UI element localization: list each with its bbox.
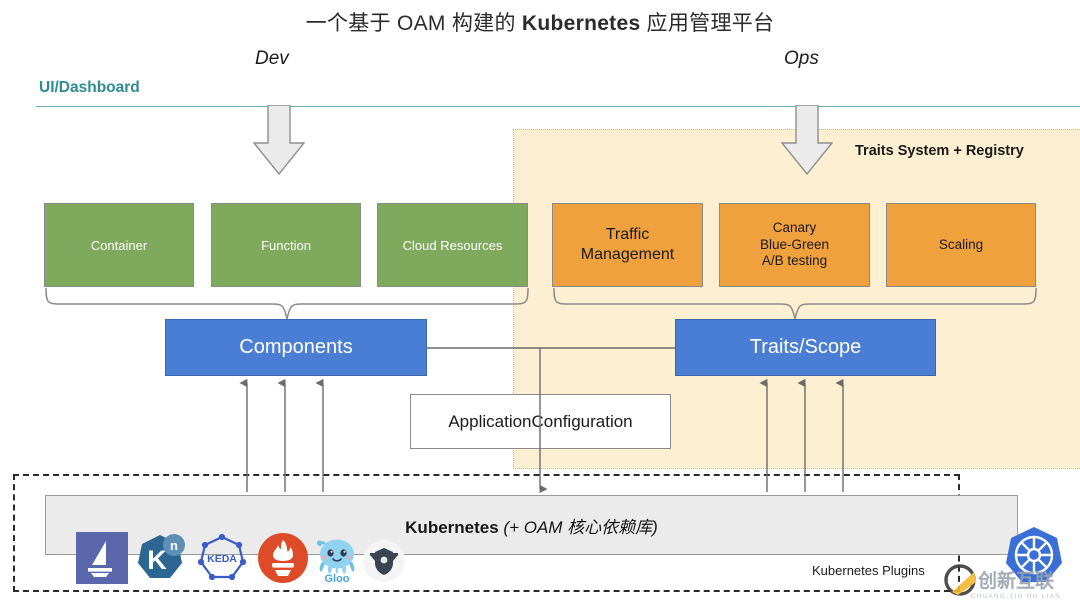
svg-text:KEDA: KEDA: [207, 553, 237, 565]
traits-scope-label: Traits/Scope: [750, 336, 862, 359]
workload-label: Container: [91, 238, 147, 253]
page-title-prefix: 一个基于 OAM 构建的: [306, 12, 522, 35]
traits-scope-box[interactable]: Traits/Scope: [675, 319, 936, 376]
traits-system-region-title: Traits System + Registry: [855, 143, 1024, 159]
trait-box-traffic-management[interactable]: Traffic Management: [552, 203, 703, 287]
kubernetes-platform-bar: Kubernetes (+ OAM 核心依赖库): [45, 495, 1018, 555]
watermark-subtext: CHUANG XIN HU LIAN: [971, 593, 1061, 600]
trait-label-line1: Scaling: [939, 237, 983, 254]
components-box[interactable]: Components: [165, 319, 427, 376]
role-label-ops: Ops: [784, 48, 819, 70]
trait-box-canary[interactable]: Canary Blue-Green A/B testing: [719, 203, 870, 287]
trait-label-line1: Canary: [760, 220, 829, 237]
svg-text:Gloo: Gloo: [324, 573, 349, 584]
diagram-canvas: 一个基于 OAM 构建的 Kubernetes 应用管理平台 Dev Ops U…: [0, 0, 1080, 609]
gloo-icon[interactable]: Gloo: [311, 532, 363, 584]
application-configuration-box[interactable]: ApplicationConfiguration: [410, 394, 671, 449]
dev-flow-arrow-icon: [253, 105, 305, 175]
watermark: 创新互联 CHUANG XIN HU LIAN: [944, 562, 1080, 602]
workload-box-container[interactable]: Container: [44, 203, 194, 287]
trait-label-line1: Traffic: [581, 225, 674, 245]
traits-brace: [552, 287, 1038, 321]
page-title-suffix: 应用管理平台: [640, 12, 774, 35]
components-label: Components: [239, 336, 352, 359]
trait-box-scaling[interactable]: Scaling: [886, 203, 1036, 287]
trait-label-line2: Management: [581, 245, 674, 265]
trait-label-line3: A/B testing: [760, 253, 829, 270]
vault-icon[interactable]: [362, 539, 406, 583]
kubernetes-strong-label: Kubernetes: [405, 518, 499, 537]
application-configuration-label: ApplicationConfiguration: [448, 412, 632, 432]
svg-text:n: n: [170, 538, 178, 553]
ui-dashboard-label: UI/Dashboard: [39, 79, 140, 97]
workload-label: Cloud Resources: [403, 238, 503, 253]
ui-dashboard-divider: [36, 106, 1080, 107]
workload-box-cloud-resources[interactable]: Cloud Resources: [377, 203, 528, 287]
trait-label-line2: Blue-Green: [760, 237, 829, 254]
workload-box-function[interactable]: Function: [211, 203, 361, 287]
prometheus-icon[interactable]: [257, 532, 309, 584]
page-title: 一个基于 OAM 构建的 Kubernetes 应用管理平台: [0, 7, 1080, 37]
page-title-bold: Kubernetes: [522, 12, 641, 35]
keda-icon[interactable]: KEDA: [196, 532, 248, 584]
knative-icon[interactable]: K n: [134, 532, 186, 584]
ops-flow-arrow-icon: [781, 105, 833, 175]
workloads-brace: [44, 287, 530, 321]
watermark-text: 创新互联: [977, 569, 1054, 592]
istio-icon[interactable]: [76, 532, 128, 584]
role-label-dev: Dev: [255, 48, 289, 70]
kubernetes-note-label: (+ OAM 核心依赖库): [499, 518, 658, 537]
kubernetes-plugins-label: Kubernetes Plugins: [812, 563, 925, 578]
kubernetes-platform-text: Kubernetes (+ OAM 核心依赖库): [405, 513, 658, 538]
workload-label: Function: [261, 238, 311, 253]
